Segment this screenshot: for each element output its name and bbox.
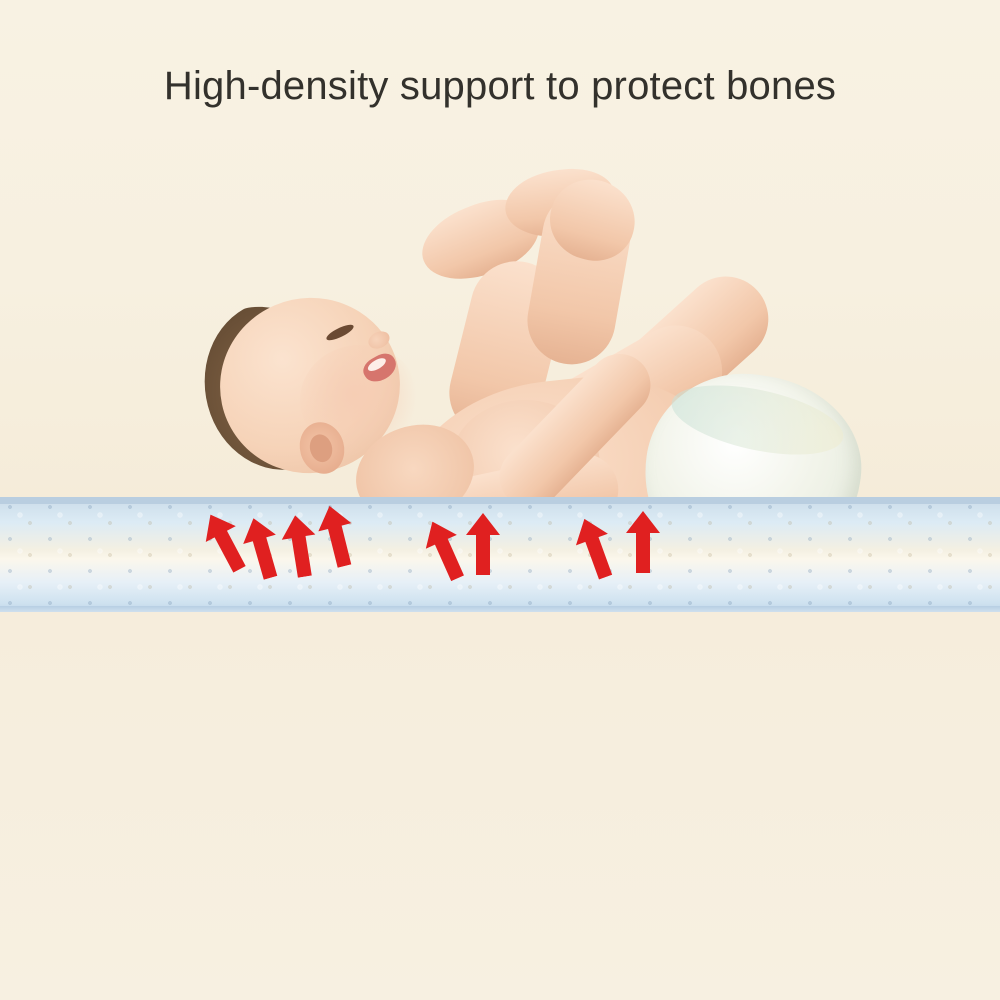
mattress-band: [0, 497, 1000, 612]
mattress-top-edge: [0, 497, 1000, 504]
support-arrow-icon: [466, 513, 500, 575]
support-arrow-icon: [626, 511, 660, 573]
certificates-section: CCC ) China National Product Certificati…: [0, 612, 1000, 1000]
mattress-pattern-b: [0, 497, 1000, 612]
product-detail-page: High-density support to protect bones: [0, 0, 1000, 1000]
hero-section: High-density support to protect bones: [0, 0, 1000, 500]
baby-photo: [150, 150, 850, 500]
page-title: High-density support to protect bones: [0, 64, 1000, 109]
